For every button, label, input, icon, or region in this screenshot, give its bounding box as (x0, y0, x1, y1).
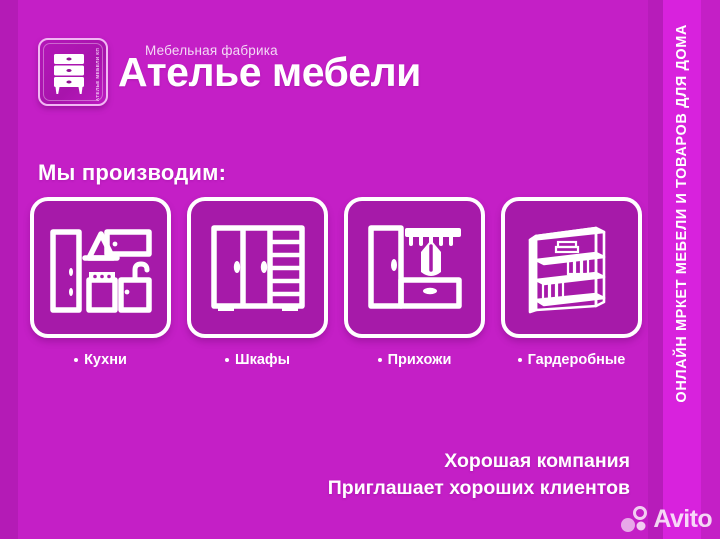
tagline: Хорошая компания Приглашает хороших клие… (328, 448, 630, 501)
logo-vertical-text: АТЕЛЬЕ МЕБЕЛИ КП (92, 40, 104, 106)
wardrobe-icon (208, 218, 308, 318)
background-band-right (648, 0, 663, 539)
product-card-hallway[interactable] (344, 197, 485, 338)
product-label-hallway: Прихожи (344, 348, 485, 372)
shelving-unit-icon (522, 218, 622, 318)
tagline-line-2: Приглашает хороших клиентов (328, 475, 630, 501)
section-heading: Мы производим: (38, 160, 226, 186)
kitchen-icon (49, 218, 153, 318)
avito-watermark: Avito (620, 505, 712, 533)
bullet-icon (74, 358, 78, 362)
tagline-line-1: Хорошая компания (328, 448, 630, 474)
side-banner-text: ОНЛАЙН МРКЕТ МЕБЕЛИ И ТОВАРОВ ДЛЯ ДОМА (663, 0, 701, 539)
product-label-row: Кухни Шкафы Прихожи Гардеробные (30, 348, 642, 372)
product-label-kitchen: Кухни (30, 348, 171, 372)
side-banner-edge (701, 0, 720, 539)
avito-logo-icon (620, 505, 650, 533)
product-card-shelving[interactable] (501, 197, 642, 338)
product-card-list (30, 197, 642, 338)
product-card-kitchen[interactable] (30, 197, 171, 338)
page-title: Ателье мебели (118, 52, 421, 93)
bullet-icon (518, 358, 522, 362)
product-label-shelving: Гардеробные (501, 348, 642, 372)
background-band-left (0, 0, 18, 539)
hallway-icon (365, 218, 465, 318)
dresser-icon (51, 53, 87, 95)
product-label-text: Кухни (84, 352, 127, 368)
product-card-wardrobe[interactable] (187, 197, 328, 338)
bullet-icon (378, 358, 382, 362)
product-label-text: Шкафы (235, 352, 290, 368)
avito-wordmark: Avito (653, 507, 712, 532)
logo-badge: АТЕЛЬЕ МЕБЕЛИ КП (38, 38, 108, 106)
product-label-wardrobe: Шкафы (187, 348, 328, 372)
product-label-text: Гардеробные (528, 352, 626, 368)
product-label-text: Прихожи (388, 352, 452, 368)
advertisement-poster: ОНЛАЙН МРКЕТ МЕБЕЛИ И ТОВАРОВ ДЛЯ ДОМА А… (0, 0, 720, 539)
bullet-icon (225, 358, 229, 362)
logo-vertical-text-label: АТЕЛЬЕ МЕБЕЛИ КП (96, 47, 101, 100)
